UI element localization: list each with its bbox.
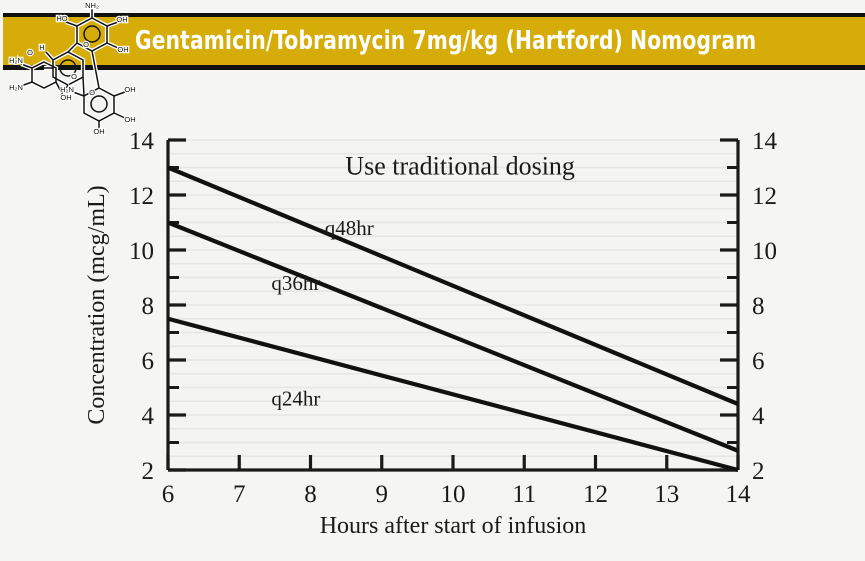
chart-annotations: Use traditional dosing [345, 151, 575, 180]
x-axis-label-6: 6 [162, 481, 175, 508]
y-axis-left-label-14: 14 [129, 128, 155, 155]
x-axis-label-8: 8 [304, 481, 317, 508]
x-axis-title: Hours after start of infusion [320, 513, 587, 539]
series-label-q48hr: q48hr [325, 216, 374, 240]
nomogram-page: Gentamicin/Tobramycin 7mg/kg (Hartford) … [0, 0, 865, 561]
nomogram-chart: 2468101214 2468101214 67891011121314 q48… [0, 0, 865, 561]
series-label-q24hr: q24hr [271, 386, 320, 410]
y-axis-right-label-12: 12 [752, 183, 777, 210]
x-axis-label-9: 9 [376, 481, 389, 508]
y-axis-left-label-8: 8 [142, 293, 155, 320]
x-axis-label-14: 14 [726, 481, 752, 508]
x-axis-label-13: 13 [654, 481, 679, 508]
y-axis-left-labels: 2468101214 [129, 128, 155, 485]
y-axis-title: Concentration (mcg/mL) [84, 185, 110, 424]
series-label-q36hr: q36hr [271, 271, 320, 295]
x-axis-labels: 67891011121314 [162, 481, 751, 508]
x-axis-label-7: 7 [233, 481, 246, 508]
y-axis-left-label-4: 4 [142, 403, 155, 430]
annotation-use-traditional-dosing: Use traditional dosing [345, 151, 575, 180]
y-axis-right-label-10: 10 [752, 238, 777, 265]
y-axis-right-label-6: 6 [752, 348, 765, 375]
y-axis-right-label-2: 2 [752, 458, 765, 485]
y-axis-left-label-10: 10 [129, 238, 154, 265]
y-axis-right-label-8: 8 [752, 293, 765, 320]
y-axis-left-label-6: 6 [142, 348, 155, 375]
y-axis-right-labels: 2468101214 [752, 128, 778, 485]
y-axis-right-label-4: 4 [752, 403, 765, 430]
x-axis-label-11: 11 [512, 481, 536, 508]
y-axis-left-label-2: 2 [142, 458, 155, 485]
x-axis-label-12: 12 [583, 481, 608, 508]
x-axis-label-10: 10 [441, 481, 466, 508]
y-axis-right-label-14: 14 [752, 128, 778, 155]
y-axis-left-label-12: 12 [129, 183, 154, 210]
